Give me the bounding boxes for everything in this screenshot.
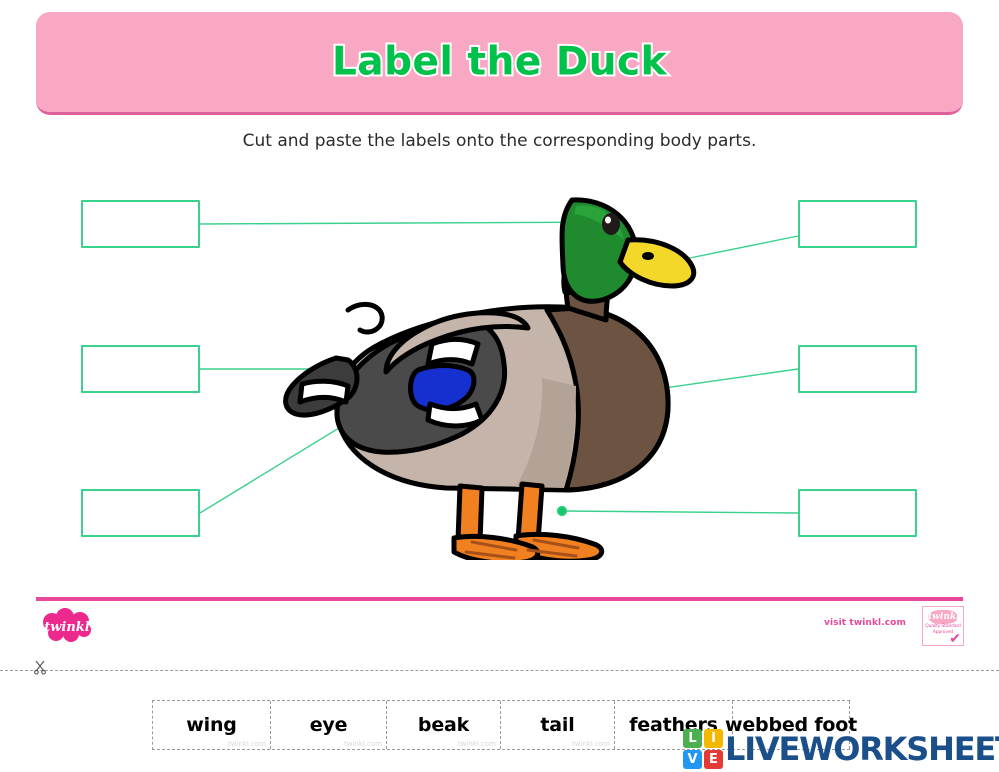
quality-standard-badge: twinkl Quality Standard Approved ✔ <box>922 606 964 646</box>
duck-tail-curl <box>348 304 382 332</box>
watermark: twinkl.com <box>228 740 266 748</box>
duck-illustration <box>276 188 724 560</box>
answer-box-left-2[interactable] <box>81 345 200 393</box>
answer-box-right-2[interactable] <box>798 345 917 393</box>
word-card-beak[interactable]: beak twinkl.com <box>387 701 501 749</box>
tile-i: I <box>704 729 723 748</box>
tile-v: V <box>683 750 702 769</box>
title-banner: Label the Duck <box>36 12 963 115</box>
duck-eye-glint <box>605 217 611 224</box>
duck-speculum-bar-bottom <box>428 404 482 426</box>
word-card-eye[interactable]: eye twinkl.com <box>271 701 387 749</box>
word-label: eye <box>310 714 348 736</box>
duck-leg-front <box>458 486 482 542</box>
answer-box-right-3[interactable] <box>798 489 917 537</box>
footer-divider <box>36 597 963 601</box>
watermark: twinkl.com <box>344 740 382 748</box>
duck-speculum-bar-top <box>428 340 478 365</box>
page-title: Label the Duck <box>36 40 963 85</box>
watermark: twinkl.com <box>572 740 610 748</box>
cut-line <box>0 670 999 672</box>
twinkl-logo: twinkl <box>38 608 96 642</box>
scissors-icon <box>33 659 49 675</box>
watermark: twinkl.com <box>458 740 496 748</box>
word-card-tail[interactable]: tail twinkl.com <box>501 701 615 749</box>
tile-e: E <box>704 750 723 769</box>
svg-text:twinkl: twinkl <box>44 620 90 635</box>
word-label: beak <box>418 714 469 736</box>
answer-box-right-1[interactable] <box>798 200 917 248</box>
instruction-text: Cut and paste the labels onto the corres… <box>0 131 999 151</box>
liveworksheets-logo: L I V E LIVEWORKSHEETS <box>683 728 999 770</box>
duck-tail-white <box>300 381 348 402</box>
badge-brand: twinkl <box>928 610 958 624</box>
duck-eye <box>602 213 620 235</box>
liveworksheets-tiles: L I V E <box>683 729 723 769</box>
word-card-wing[interactable]: wing twinkl.com <box>153 701 271 749</box>
word-label: wing <box>186 714 236 736</box>
answer-box-left-3[interactable] <box>81 489 200 537</box>
check-icon: ✔ <box>949 631 961 645</box>
tile-l: L <box>683 729 702 748</box>
liveworksheets-wordmark: LIVEWORKSHEETS <box>725 732 999 766</box>
worksheet-page: Label the Duck Cut and paste the labels … <box>0 0 999 772</box>
word-label: tail <box>540 714 574 736</box>
duck-nostril <box>642 252 654 260</box>
visit-twinkl-link[interactable]: visit twinkl.com <box>824 618 906 628</box>
answer-box-left-1[interactable] <box>81 200 200 248</box>
